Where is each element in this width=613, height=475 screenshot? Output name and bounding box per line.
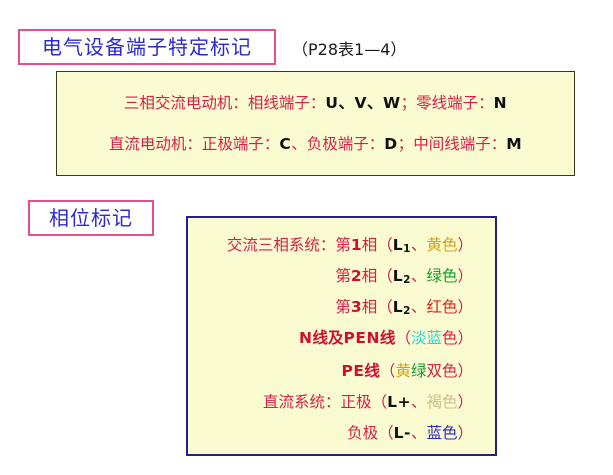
phase3-open-paren: （	[377, 298, 393, 316]
neutral-close-paren: ）	[457, 329, 473, 347]
pe-color-green: 绿	[411, 362, 427, 380]
dc-positive-comma: 、	[411, 393, 427, 411]
phase-row-pe: PE线（黄绿双色）	[341, 364, 473, 380]
phase1-open-paren: （	[377, 236, 393, 254]
middle-terminal-value: M	[506, 135, 522, 153]
neutral-terminal-label: 零线端子：	[416, 94, 494, 112]
positive-terminal-value: C	[279, 135, 291, 153]
phase-row-1: 交流三相系统：第1相（L1、黄色）	[227, 238, 473, 254]
dc-negative-close-paren: ）	[457, 424, 473, 442]
phase1-code: L1	[393, 236, 411, 254]
phase3-prefix: 第	[335, 298, 351, 316]
dc-positive-label: 正极	[341, 393, 372, 411]
dc-positive-close-paren: ）	[457, 393, 473, 411]
phase1-prefix: 第	[335, 236, 351, 254]
table-reference: （P28表1—4）	[292, 36, 406, 60]
phase-row-dc-positive: 直流系统：正极（L+、褐色）	[263, 395, 473, 411]
pen-line-code: PEN	[344, 329, 380, 347]
phase-row-dc-negative: 负极（L-、蓝色）	[347, 426, 473, 442]
neutral-color-word: 色	[442, 329, 458, 347]
page-title-box: 电气设备端子特定标记	[18, 29, 276, 65]
n-line-word: 线及	[312, 329, 343, 347]
phase-terminal-label: 相线端子：	[248, 94, 326, 112]
neutral-open-paren: （	[395, 329, 411, 347]
phase2-close-paren: ）	[457, 267, 473, 285]
dc-positive-open-paren: （	[372, 393, 388, 411]
phase-row-neutral: N线及PEN线（淡蓝色）	[299, 331, 473, 347]
phase3-number: 3	[351, 298, 362, 316]
pe-open-paren: （	[380, 362, 396, 380]
pe-dual-color-word: 双色	[426, 362, 457, 380]
ac-three-phase-system-label: 交流三相系统：	[227, 236, 336, 254]
phase2-prefix: 第	[335, 267, 351, 285]
phase1-close-paren: ）	[457, 236, 473, 254]
dc-negative-color-name: 蓝色	[426, 424, 457, 442]
phase3-suffix: 相	[362, 298, 378, 316]
dc-motor-label: 直流电动机：	[109, 135, 202, 153]
negative-terminal-label: 负极端子：	[307, 135, 385, 153]
neutral-color-tint: 淡蓝	[411, 329, 442, 347]
dc-negative-comma: 、	[411, 424, 427, 442]
pe-color-yellow: 黄	[395, 362, 411, 380]
phase3-comma: 、	[411, 298, 427, 316]
positive-terminal-label: 正极端子：	[202, 135, 280, 153]
phase-marking-label: 相位标记	[49, 208, 133, 228]
dc-system-label: 直流系统：	[263, 393, 341, 411]
ac-motor-label: 三相交流电动机：	[124, 94, 248, 112]
middle-terminal-label: 中间线端子：	[413, 135, 506, 153]
pe-line-word: 线	[364, 362, 380, 380]
phase1-comma: 、	[411, 236, 427, 254]
phase-marking-label-box: 相位标记	[28, 200, 154, 236]
phase2-comma: 、	[411, 267, 427, 285]
terminal-row-ac-motor: 三相交流电动机：相线端子：U、V、W；零线端子：N	[57, 96, 574, 112]
terminal-row-dc-motor: 直流电动机：正极端子：C、负极端子：D；中间线端子：M	[57, 137, 574, 153]
phase-row-3: 第3相（L2、红色）	[335, 300, 473, 316]
neutral-terminal-value: N	[494, 94, 507, 112]
negative-terminal-value: D	[384, 135, 397, 153]
row2-comma: 、	[291, 135, 307, 153]
phase-marking-panel: 交流三相系统：第1相（L1、黄色） 第2相（L2、绿色） 第3相（L2、红色） …	[186, 216, 497, 456]
phase-row-2: 第2相（L2、绿色）	[335, 269, 473, 285]
dc-negative-code: L-	[394, 424, 411, 442]
phase2-code: L2	[393, 267, 411, 285]
pe-line-code: PE	[341, 362, 364, 380]
phase-terminal-values: U、V、W	[325, 94, 400, 112]
phase1-number: 1	[351, 236, 362, 254]
dc-positive-code: L+	[387, 393, 411, 411]
dc-positive-color-name: 褐色	[426, 393, 457, 411]
row1-separator: ；	[401, 94, 417, 112]
phase1-color-name: 黄色	[426, 236, 457, 254]
phase3-close-paren: ）	[457, 298, 473, 316]
phase2-suffix: 相	[362, 267, 378, 285]
phase1-suffix: 相	[362, 236, 378, 254]
dc-negative-label: 负极	[347, 424, 378, 442]
n-line-code: N	[299, 329, 312, 347]
page-title: 电气设备端子特定标记	[42, 37, 252, 57]
pen-line-word: 线	[380, 329, 396, 347]
row2-separator: ；	[398, 135, 414, 153]
phase3-code: L2	[393, 298, 411, 316]
terminal-marking-panel: 三相交流电动机：相线端子：U、V、W；零线端子：N 直流电动机：正极端子：C、负…	[56, 71, 575, 176]
phase2-open-paren: （	[377, 267, 393, 285]
pe-close-paren: ）	[457, 362, 473, 380]
dc-negative-open-paren: （	[378, 424, 394, 442]
phase2-color-name: 绿色	[426, 267, 457, 285]
phase3-color-name: 红色	[426, 298, 457, 316]
phase2-number: 2	[351, 267, 362, 285]
